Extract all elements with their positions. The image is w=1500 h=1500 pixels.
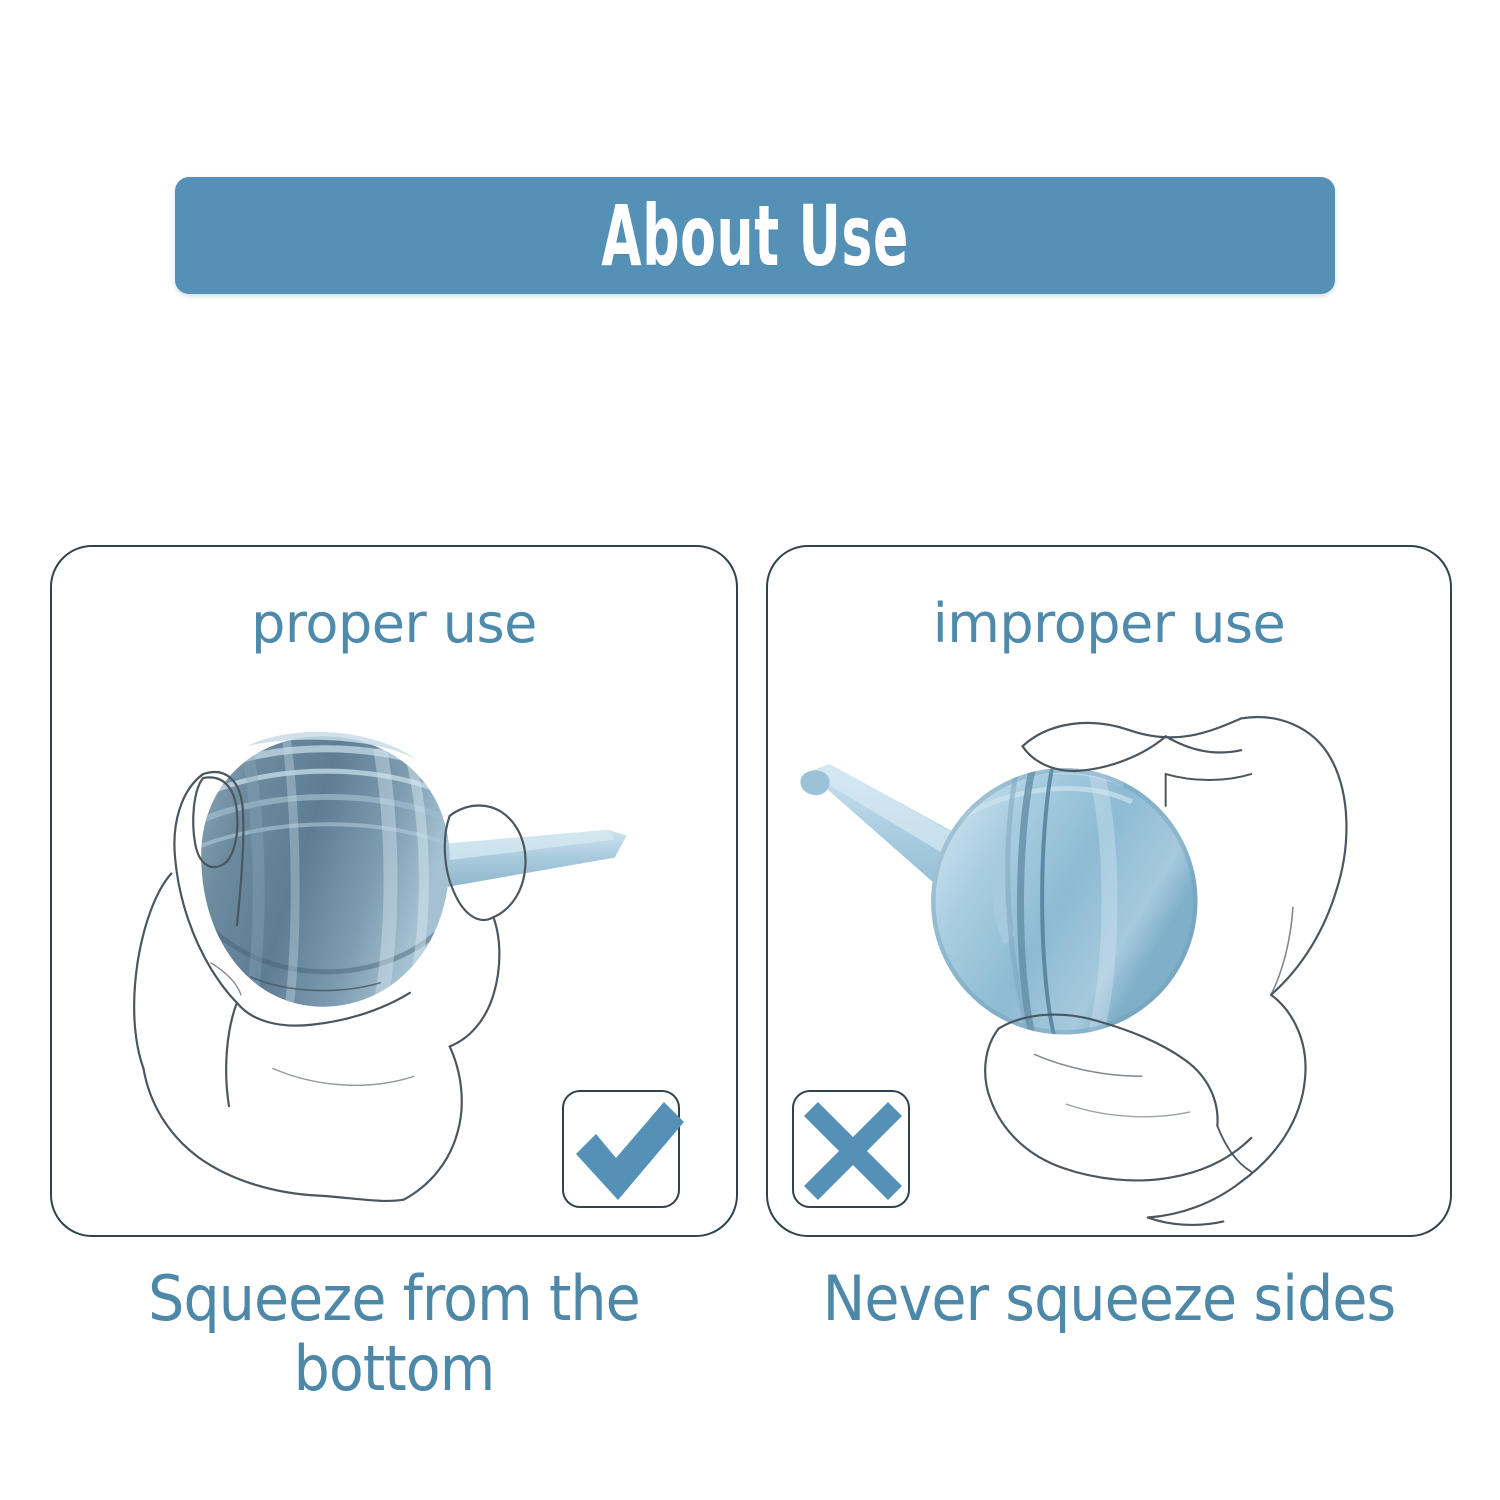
card-label-proper-use: proper use (52, 595, 736, 653)
infographic-page: About Use proper use (0, 0, 1500, 1500)
card-proper-use: proper use (50, 545, 738, 1237)
proper-use-mark (562, 1090, 680, 1208)
caption-proper-use: Squeeze from the bottom (78, 1264, 711, 1404)
card-improper-use: improper use (766, 545, 1452, 1237)
nozzle-tip (800, 770, 829, 795)
caption-improper-use: Never squeeze sides (793, 1264, 1424, 1334)
cross-mark-icon (784, 1082, 922, 1220)
bulb-body (931, 757, 1197, 1036)
card-label-improper-use: improper use (768, 595, 1450, 653)
check-mark-icon (554, 1082, 692, 1220)
improper-use-mark (792, 1090, 910, 1208)
